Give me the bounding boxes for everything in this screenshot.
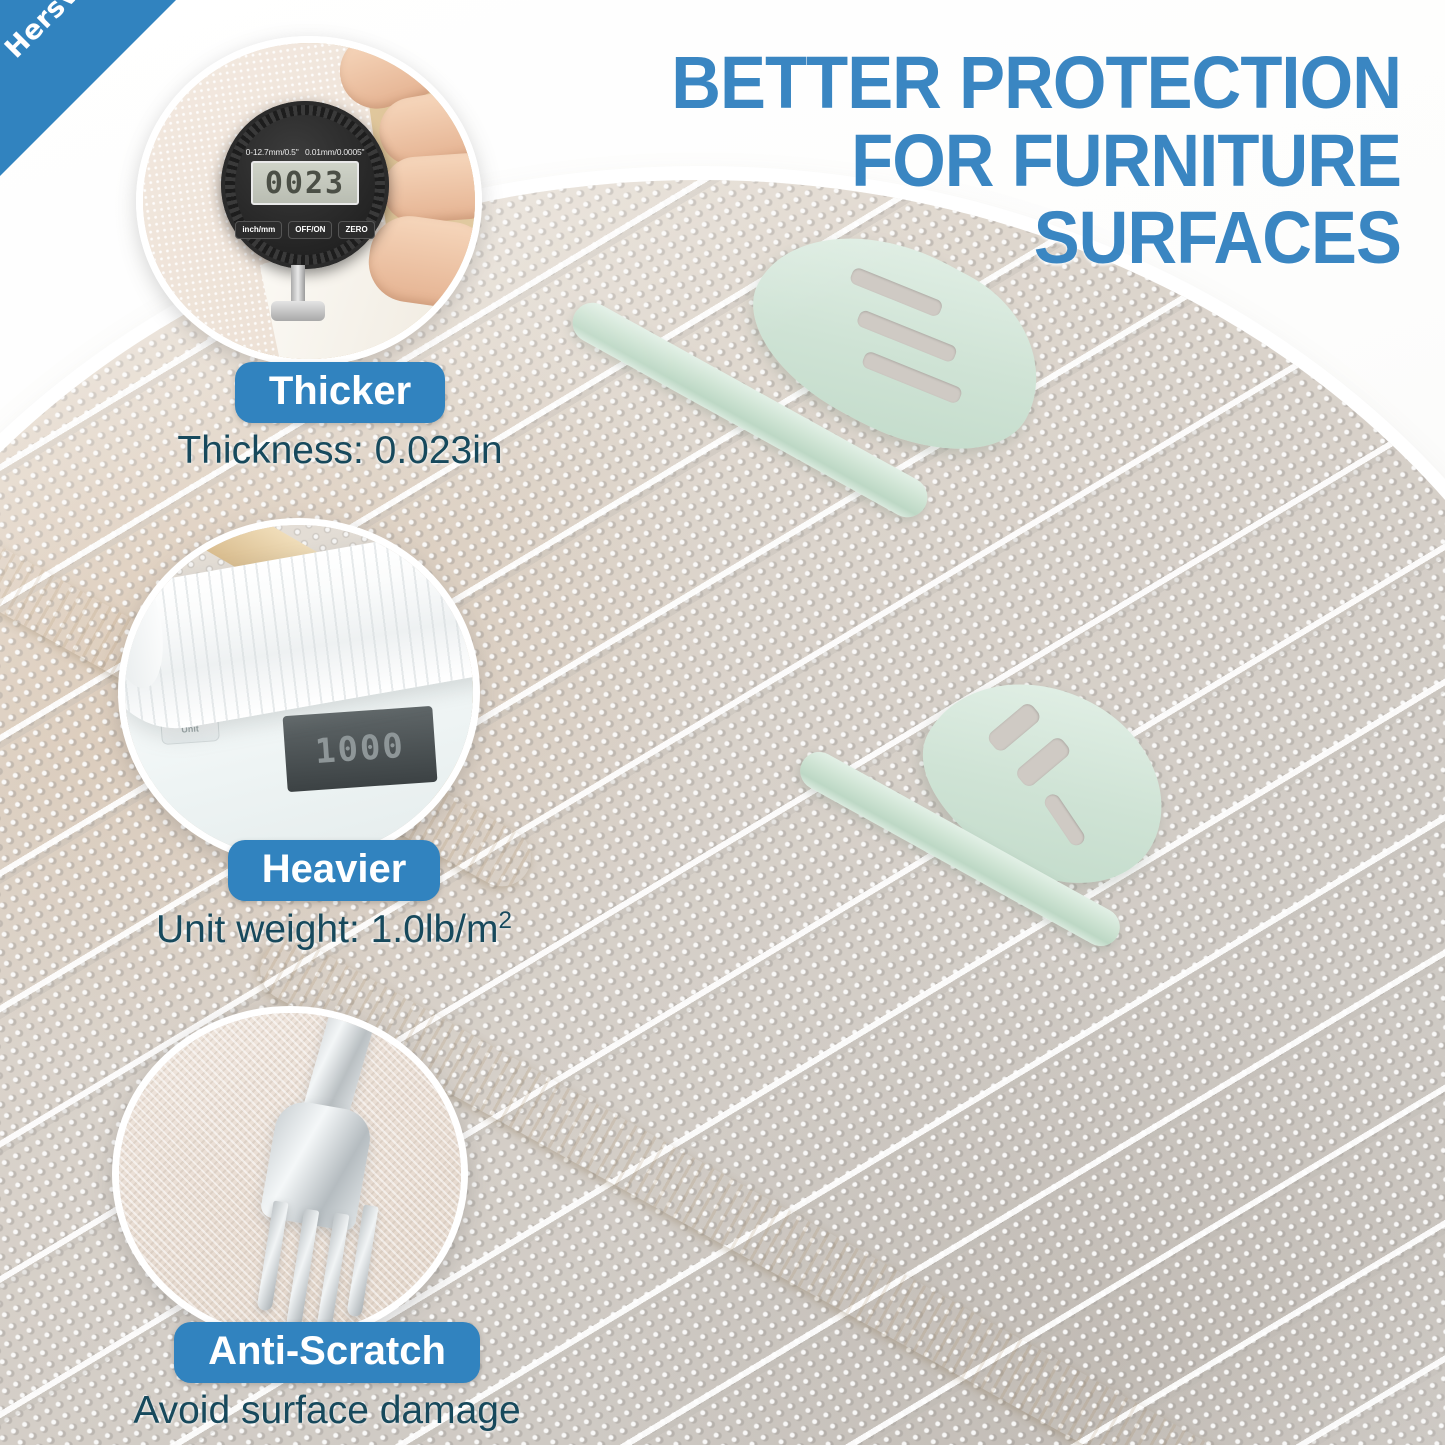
feature-caption-weight-text: Unit weight: 1.0lb/m (156, 908, 499, 951)
gauge-probe-foot (271, 301, 325, 321)
feature-badge-anti-scratch: Anti-Scratch (174, 1322, 480, 1383)
headline-line-3: SURFACES (564, 199, 1401, 277)
feature-callout-thicker: Thicker Thickness: 0.023in (100, 362, 580, 473)
gauge-lcd-screen: 0023 (251, 161, 359, 205)
inset-photo-fork-scratch-test (112, 1006, 468, 1342)
headline-line-2: FOR FURNITURE (564, 122, 1401, 200)
scale-lcd-screen: 1000 (283, 706, 438, 792)
gauge-button-row: inch/mm OFF/ON ZERO (247, 221, 363, 239)
gauge-spec-range: 0-12.7mm/0.5" (246, 147, 299, 157)
feature-caption-weight: Unit weight: 1.0lb/m2 (84, 907, 584, 952)
feature-caption-anti-scratch: Avoid surface damage (72, 1389, 582, 1433)
gauge-reading: 0023 (265, 166, 345, 201)
inch-mm-button[interactable]: inch/mm (235, 221, 282, 239)
feature-badge-thicker: Thicker (235, 362, 445, 423)
off-on-button[interactable]: OFF/ON (288, 221, 332, 239)
product-marketing-image: 0-12.7mm/0.5" 0.01mm/0.0005" 0023 inch/m… (0, 0, 1445, 1445)
feature-caption-thickness: Thickness: 0.023in (100, 429, 580, 473)
inset-photo-thickness-gauge: 0-12.7mm/0.5" 0.01mm/0.0005" 0023 inch/m… (136, 36, 482, 366)
feature-badge-heavier: Heavier (228, 840, 441, 901)
digital-thickness-gauge: 0-12.7mm/0.5" 0.01mm/0.0005" 0023 inch/m… (221, 101, 389, 269)
gauge-spec-resolution: 0.01mm/0.0005" (305, 147, 364, 157)
headline-line-1: BETTER PROTECTION (564, 44, 1401, 122)
inset-photo-content: Unit 1000 (125, 525, 473, 859)
inset-photo-content (119, 1013, 461, 1335)
zero-button[interactable]: ZERO (338, 221, 374, 239)
gauge-spec-label: 0-12.7mm/0.5" 0.01mm/0.0005" (243, 147, 367, 157)
finger (381, 151, 482, 225)
feature-caption-weight-exponent: 2 (499, 907, 512, 934)
scale-reading: 1000 (314, 726, 406, 772)
feature-callout-anti-scratch: Anti-Scratch Avoid surface damage (72, 1322, 582, 1433)
page-title: BETTER PROTECTION FOR FURNITURE SURFACES (564, 44, 1401, 277)
gauge-face: 0-12.7mm/0.5" 0.01mm/0.0005" 0023 inch/m… (235, 115, 375, 255)
inset-photo-weight-scale: Unit 1000 (118, 518, 480, 866)
inset-photo-content: 0-12.7mm/0.5" 0.01mm/0.0005" 0023 inch/m… (143, 43, 475, 359)
feature-callout-heavier: Heavier Unit weight: 1.0lb/m2 (84, 840, 584, 952)
